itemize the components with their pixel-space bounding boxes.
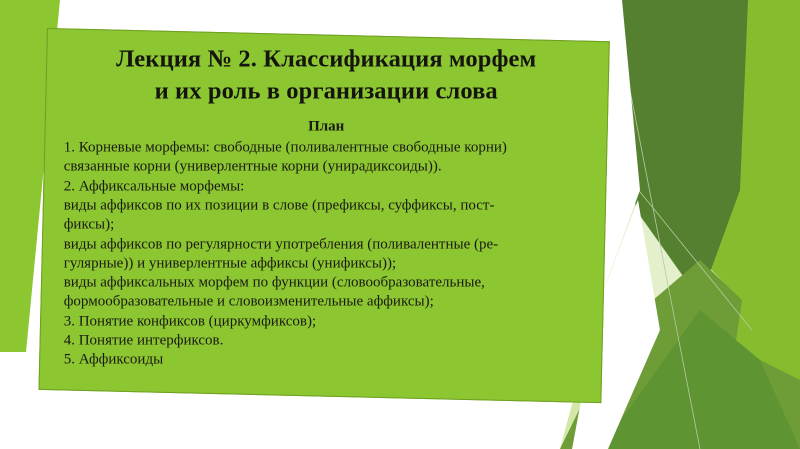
plan-line: 1. Корневые морфемы: свободные (поливале… [64, 139, 591, 158]
plan-line: 4. Понятие интерфиксов. [64, 332, 591, 351]
plan-line: виды аффиксов по их позиции в слове (пре… [64, 197, 591, 216]
plan-heading: План [60, 117, 593, 137]
plan-line: виды аффиксов по регулярности употреблен… [64, 235, 591, 254]
presentation-slide: Лекция № 2. Классификация морфем и их ро… [0, 0, 800, 449]
plan-line: связанные корни (универлентные корни (ун… [64, 158, 591, 177]
plan-line: 5. Аффиксоиды [64, 351, 591, 370]
plan-body: 1. Корневые морфемы: свободные (поливале… [60, 139, 593, 370]
plan-line: формообразовательные и словоизменительны… [64, 293, 591, 312]
slide-content-panel: Лекция № 2. Классификация морфем и их ро… [38, 28, 609, 403]
slide-content-inner: Лекция № 2. Классификация морфем и их ро… [44, 36, 607, 398]
slide-title: Лекция № 2. Классификация морфем и их ро… [60, 44, 593, 108]
slide-title-line-1: Лекция № 2. Классификация морфем [116, 46, 536, 73]
slide-title-line-2: и их роль в организации слова [155, 78, 498, 105]
plan-line: 3. Понятие конфиксов (циркумфиксов); [64, 312, 591, 331]
plan-line: виды аффиксальных морфем по функции (сло… [64, 274, 591, 293]
plan-line: 2. Аффиксальные морфемы: [64, 177, 591, 196]
plan-line: фиксы); [64, 216, 591, 235]
plan-line: гулярные)) и универлентные аффиксы (униф… [64, 254, 591, 273]
